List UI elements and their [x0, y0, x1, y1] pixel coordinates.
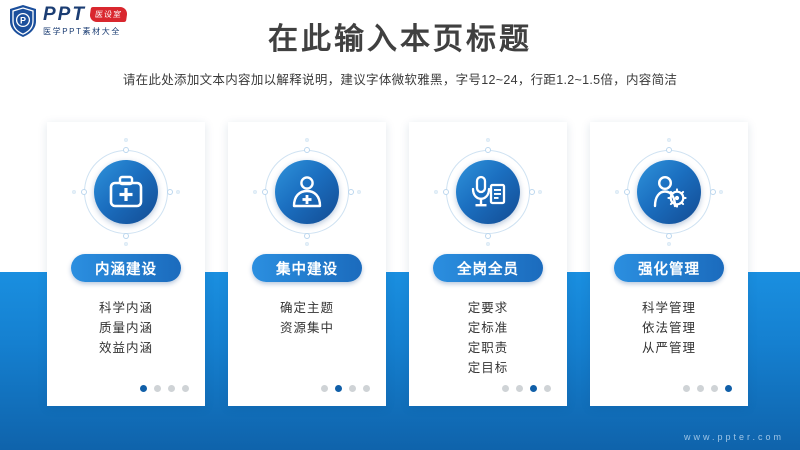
- list-item: 资源集中: [228, 318, 386, 338]
- medical-briefcase-icon: [94, 160, 158, 224]
- ring-outer-dot: [615, 190, 619, 194]
- card-item[interactable]: 全岗全员 定要求 定标准 定职责 定目标: [409, 122, 567, 406]
- icon-badge: [259, 144, 355, 240]
- list-item: 定标准: [409, 318, 567, 338]
- ring-outer-dot: [305, 138, 309, 142]
- card-items: 定要求 定标准 定职责 定目标: [409, 298, 567, 378]
- pagination-dot[interactable]: [544, 385, 551, 392]
- card-label-pill[interactable]: 内涵建设: [71, 254, 181, 282]
- ring-dot: [262, 189, 268, 195]
- ring-dot: [443, 189, 449, 195]
- list-item: 科学管理: [590, 298, 748, 318]
- ring-dot: [123, 233, 129, 239]
- footer-url: www.ppter.com: [684, 432, 784, 442]
- pagination-dot[interactable]: [725, 385, 732, 392]
- ring-dot: [304, 147, 310, 153]
- list-item: 从严管理: [590, 338, 748, 358]
- pagination-dots[interactable]: [683, 385, 732, 392]
- pagination-dot[interactable]: [502, 385, 509, 392]
- list-item: 质量内涵: [47, 318, 205, 338]
- person-gear-icon: [637, 160, 701, 224]
- list-item: 定目标: [409, 358, 567, 378]
- pagination-dot[interactable]: [697, 385, 704, 392]
- pagination-dot[interactable]: [683, 385, 690, 392]
- page-title: 在此输入本页标题: [0, 14, 800, 58]
- ring-outer-dot: [72, 190, 76, 194]
- page-subtitle: 请在此处添加文本内容加以解释说明，建议字体微软雅黑，字号12~24，行距1.2~…: [0, 69, 800, 88]
- ring-outer-dot: [357, 190, 361, 194]
- ring-outer-dot: [719, 190, 723, 194]
- card-items: 科学内涵 质量内涵 效益内涵: [47, 298, 205, 358]
- pagination-dot[interactable]: [321, 385, 328, 392]
- pagination-dot[interactable]: [349, 385, 356, 392]
- pagination-dots[interactable]: [140, 385, 189, 392]
- card-items: 科学管理 依法管理 从严管理: [590, 298, 748, 358]
- card-item[interactable]: 强化管理 科学管理 依法管理 从严管理: [590, 122, 748, 406]
- card-item[interactable]: 内涵建设 科学内涵 质量内涵 效益内涵: [47, 122, 205, 406]
- card-label-pill[interactable]: 集中建设: [252, 254, 362, 282]
- ring-outer-dot: [305, 242, 309, 246]
- list-item: 效益内涵: [47, 338, 205, 358]
- ring-outer-dot: [253, 190, 257, 194]
- pagination-dot[interactable]: [154, 385, 161, 392]
- pagination-dots[interactable]: [321, 385, 370, 392]
- icon-badge: [440, 144, 536, 240]
- ring-dot: [348, 189, 354, 195]
- pagination-dots[interactable]: [502, 385, 551, 392]
- ring-outer-dot: [538, 190, 542, 194]
- pagination-dot[interactable]: [182, 385, 189, 392]
- ring-dot: [123, 147, 129, 153]
- card-row: 内涵建设 科学内涵 质量内涵 效益内涵: [0, 122, 800, 406]
- card-items: 确定主题 资源集中: [228, 298, 386, 338]
- ring-dot: [304, 233, 310, 239]
- ring-outer-dot: [124, 242, 128, 246]
- ring-dot: [485, 147, 491, 153]
- list-item: 科学内涵: [47, 298, 205, 318]
- ring-dot: [624, 189, 630, 195]
- icon-badge: [78, 144, 174, 240]
- ring-dot: [710, 189, 716, 195]
- pagination-dot[interactable]: [516, 385, 523, 392]
- pagination-dot[interactable]: [363, 385, 370, 392]
- pagination-dot[interactable]: [335, 385, 342, 392]
- ring-outer-dot: [667, 138, 671, 142]
- ring-dot: [666, 147, 672, 153]
- pagination-dot[interactable]: [711, 385, 718, 392]
- ring-outer-dot: [667, 242, 671, 246]
- doctor-person-icon: [275, 160, 339, 224]
- card-item[interactable]: 集中建设 确定主题 资源集中: [228, 122, 386, 406]
- ring-dot: [167, 189, 173, 195]
- card-label-pill[interactable]: 全岗全员: [433, 254, 543, 282]
- pagination-dot[interactable]: [140, 385, 147, 392]
- icon-badge: [621, 144, 717, 240]
- ring-outer-dot: [124, 138, 128, 142]
- ring-outer-dot: [486, 138, 490, 142]
- pagination-dot[interactable]: [168, 385, 175, 392]
- list-item: 定职责: [409, 338, 567, 358]
- microphone-checklist-icon: [456, 160, 520, 224]
- ring-dot: [81, 189, 87, 195]
- ring-dot: [529, 189, 535, 195]
- list-item: 依法管理: [590, 318, 748, 338]
- ring-outer-dot: [486, 242, 490, 246]
- ring-outer-dot: [434, 190, 438, 194]
- list-item: 确定主题: [228, 298, 386, 318]
- list-item: 定要求: [409, 298, 567, 318]
- ring-dot: [666, 233, 672, 239]
- pagination-dot[interactable]: [530, 385, 537, 392]
- ring-outer-dot: [176, 190, 180, 194]
- ring-dot: [485, 233, 491, 239]
- card-label-pill[interactable]: 强化管理: [614, 254, 724, 282]
